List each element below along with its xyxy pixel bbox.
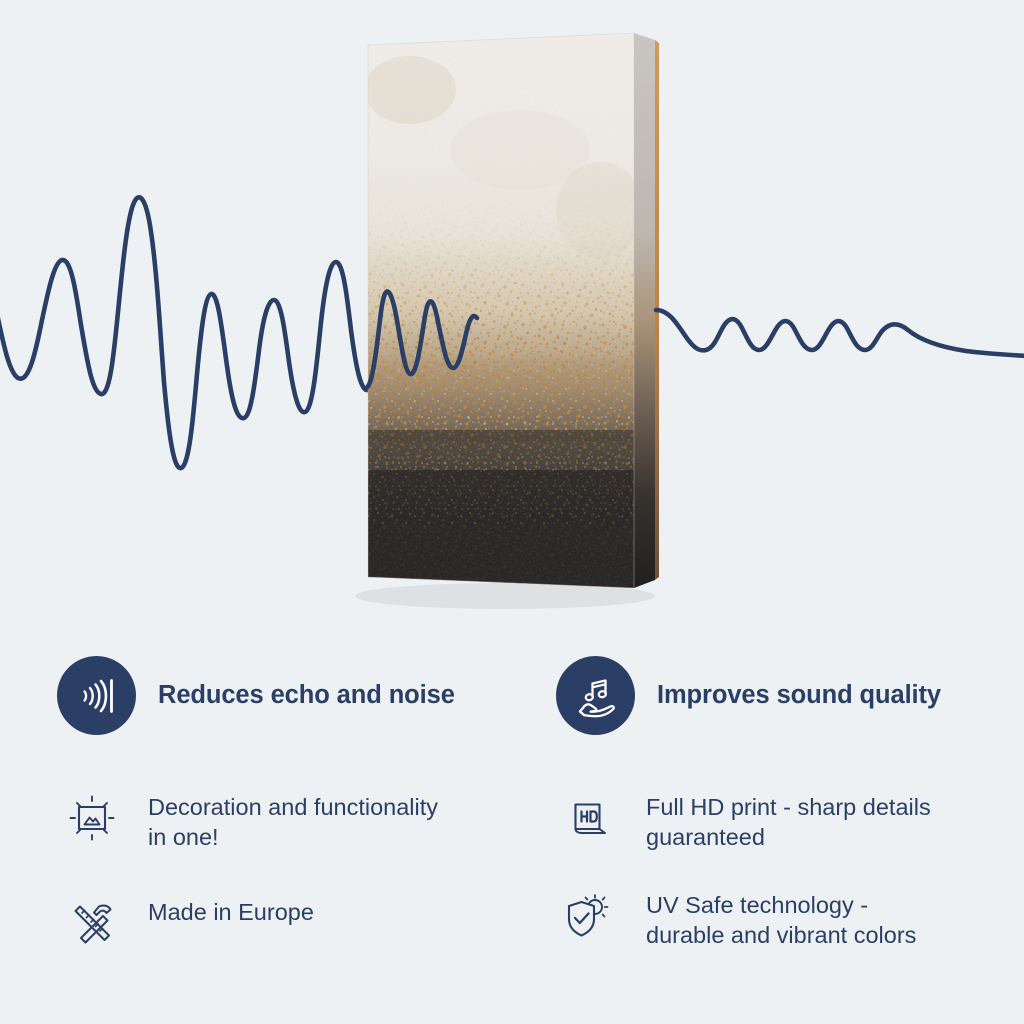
- feature-detail-label: Full HD print - sharp details guaranteed: [646, 788, 931, 852]
- feature-highlight-label: Improves sound quality: [657, 681, 941, 710]
- feature-highlight-reduces-echo: Reduces echo and noise: [57, 656, 455, 735]
- canvas-print-artwork: [355, 28, 660, 620]
- feature-detail-made-in-europe: Made in Europe: [62, 893, 314, 953]
- hd-print-icon-wrap: [560, 788, 620, 848]
- ruler-hammer-icon-wrap: [62, 893, 122, 953]
- uv-shield-sun-icon: [561, 887, 619, 945]
- sound-wave-absorb-icon: [72, 671, 122, 721]
- feature-list: Reduces echo and noise: [0, 638, 1024, 1024]
- feature-detail-uv-safe: UV Safe technology - durable and vibrant…: [560, 886, 916, 950]
- badge-circle-reduces-echo: [57, 656, 136, 735]
- feature-highlight-label: Reduces echo and noise: [158, 681, 455, 710]
- feature-detail-decoration: Decoration and functionality in one!: [62, 788, 438, 852]
- infographic-page: Reduces echo and noise: [0, 0, 1024, 1024]
- uv-shield-sun-icon-wrap: [560, 886, 620, 946]
- feature-detail-label: Made in Europe: [148, 893, 314, 927]
- feature-detail-hd-print: Full HD print - sharp details guaranteed: [560, 788, 931, 852]
- waveform-left: [0, 197, 368, 468]
- canvas-side-edge: [634, 33, 655, 588]
- waveform-right: [656, 310, 1024, 356]
- sound-wave-line: [0, 0, 1024, 640]
- framed-picture-shine-icon-wrap: [62, 788, 122, 848]
- feature-detail-label: UV Safe technology - durable and vibrant…: [646, 886, 916, 950]
- music-note-hand-icon: [571, 671, 621, 721]
- ruler-hammer-icon: [63, 894, 121, 952]
- hero-product-illustration: [0, 0, 1024, 640]
- feature-detail-label: Decoration and functionality in one!: [148, 788, 438, 852]
- framed-picture-shine-icon: [63, 789, 121, 847]
- feature-highlight-sound-quality: Improves sound quality: [556, 656, 941, 735]
- hd-print-icon: [561, 789, 619, 847]
- badge-circle-sound-quality: [556, 656, 635, 735]
